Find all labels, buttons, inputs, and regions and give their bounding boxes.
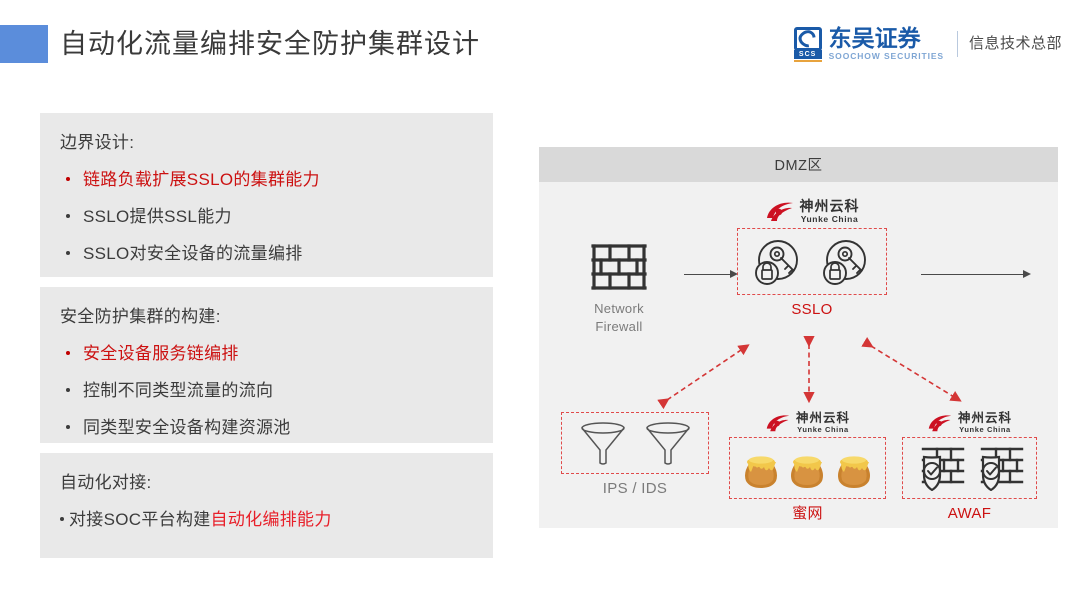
bullet-text: 安全设备服务链编排 bbox=[83, 340, 239, 367]
brand-divider bbox=[957, 31, 958, 57]
honey-pot-icon bbox=[835, 446, 873, 490]
vendor-name-cn: 神州云科 bbox=[958, 412, 1012, 425]
yunke-swoosh-icon bbox=[927, 414, 953, 433]
honey-pot-icon bbox=[742, 446, 780, 490]
vendor-name-en: Yunke China bbox=[958, 425, 1012, 435]
bullet-text: 链路负载扩展SSLO的集群能力 bbox=[83, 166, 320, 193]
flow-arrow-out-head bbox=[1023, 270, 1031, 278]
bullet-text: SSLO对安全设备的流量编排 bbox=[83, 240, 303, 267]
awaf-dashed-group bbox=[902, 437, 1037, 499]
vendor-name-cn: 神州云科 bbox=[800, 199, 860, 214]
vendor-name-en: Yunke China bbox=[800, 214, 860, 225]
bullet-item: 对接SOC平台构建自动化编排能力 bbox=[60, 506, 473, 533]
soochow-logo: SCS 东吴证券 SOOCHOW SECURITIES bbox=[794, 27, 944, 62]
node-honeynet: 神州云科 Yunke China bbox=[729, 412, 886, 523]
bullet-dot-icon bbox=[66, 177, 70, 181]
block-heading: 自动化对接: bbox=[60, 469, 473, 497]
node-sslo: 神州云科 Yunke China bbox=[737, 199, 887, 319]
bullet-dot-icon bbox=[66, 388, 70, 392]
bullet-item: SSLO对安全设备的流量编排 bbox=[60, 240, 473, 267]
flow-arrow-out-line bbox=[921, 274, 1025, 275]
honey-pot-icon bbox=[788, 446, 826, 490]
shield-wall-icon bbox=[915, 445, 965, 491]
arrow-sslo-to-awaf bbox=[871, 346, 959, 400]
node-label-ips-ids: IPS / IDS bbox=[561, 474, 709, 498]
content-block-cluster-build: 安全防护集群的构建: 安全设备服务链编排 控制不同类型流量的流向 同类型安全设备… bbox=[40, 287, 493, 443]
node-label-sslo: SSLO bbox=[737, 295, 887, 319]
bullet-item: 链路负载扩展SSLO的集群能力 bbox=[60, 166, 473, 193]
brick-wall-icon bbox=[591, 242, 647, 294]
arrow-sslo-to-ips bbox=[667, 346, 747, 400]
bullet-text: 对接SOC平台构建自动化编排能力 bbox=[69, 506, 332, 533]
bullet-text: 控制不同类型流量的流向 bbox=[83, 377, 273, 404]
bullet-item: SSLO提供SSL能力 bbox=[60, 203, 473, 230]
brand-name-en: SOOCHOW SECURITIES bbox=[829, 50, 944, 62]
bullet-text: SSLO提供SSL能力 bbox=[83, 203, 232, 230]
bullet-text-plain: 对接SOC平台构建 bbox=[69, 510, 211, 529]
yunke-swoosh-icon bbox=[765, 201, 795, 223]
brand-department: 信息技术总部 bbox=[969, 34, 1062, 54]
vendor-logo-yunke: 神州云科 Yunke China bbox=[729, 412, 886, 435]
funnel-icon bbox=[579, 420, 627, 466]
soochow-mark-icon: SCS bbox=[794, 27, 824, 59]
page-title: 自动化流量编排安全防护集群设计 bbox=[60, 24, 480, 64]
vendor-logo-yunke: 神州云科 Yunke China bbox=[902, 412, 1037, 435]
bullet-dot-icon bbox=[60, 517, 64, 521]
dmz-zone-label: DMZ区 bbox=[775, 154, 823, 175]
soochow-mark-text: SCS bbox=[794, 50, 822, 59]
node-label-honeynet: 蜜网 bbox=[729, 499, 886, 523]
brand-block: SCS 东吴证券 SOOCHOW SECURITIES 信息技术总部 bbox=[794, 24, 1062, 64]
vendor-logo-yunke: 神州云科 Yunke China bbox=[737, 199, 887, 225]
bullet-item: 同类型安全设备构建资源池 bbox=[60, 414, 473, 441]
key-lock-icon bbox=[752, 236, 804, 288]
yunke-swoosh-icon bbox=[765, 414, 791, 433]
node-label-awaf: AWAF bbox=[902, 499, 1037, 523]
node-network-firewall: Network Firewall bbox=[564, 242, 674, 336]
node-awaf: 神州云科 Yunke China bbox=[902, 412, 1037, 523]
bullet-text-highlight: 自动化编排能力 bbox=[211, 510, 332, 529]
block-heading: 安全防护集群的构建: bbox=[60, 303, 473, 331]
dmz-zone-header: DMZ区 bbox=[539, 147, 1058, 182]
vendor-name-en: Yunke China bbox=[796, 425, 850, 435]
ips-dashed-group bbox=[561, 412, 709, 474]
service-chain-arrows bbox=[539, 332, 1058, 422]
key-lock-icon bbox=[820, 236, 872, 288]
bullet-text: 同类型安全设备构建资源池 bbox=[83, 414, 291, 441]
block-heading: 边界设计: bbox=[60, 129, 473, 157]
honeynet-dashed-group bbox=[729, 437, 886, 499]
bullet-item: 安全设备服务链编排 bbox=[60, 340, 473, 367]
content-block-boundary-design: 边界设计: 链路负载扩展SSLO的集群能力 SSLO提供SSL能力 SSLO对安… bbox=[40, 113, 493, 277]
shield-wall-icon bbox=[974, 445, 1024, 491]
vendor-name-cn: 神州云科 bbox=[796, 412, 850, 425]
title-accent-bar bbox=[0, 25, 48, 63]
bullet-dot-icon bbox=[66, 251, 70, 255]
bullet-dot-icon bbox=[66, 214, 70, 218]
content-block-automation: 自动化对接: 对接SOC平台构建自动化编排能力 bbox=[40, 453, 493, 558]
slide-root: 自动化流量编排安全防护集群设计 SCS 东吴证券 SOOCHOW SECURIT… bbox=[0, 0, 1080, 608]
bullet-dot-icon bbox=[66, 425, 70, 429]
flow-arrow-in-line bbox=[684, 274, 732, 275]
funnel-icon bbox=[644, 420, 692, 466]
bullet-item: 控制不同类型流量的流向 bbox=[60, 377, 473, 404]
architecture-diagram: DMZ区 bbox=[539, 147, 1058, 528]
brand-name-cn: 东吴证券 bbox=[829, 27, 944, 50]
node-label-line1: Network bbox=[564, 294, 674, 318]
bullet-dot-icon bbox=[66, 351, 70, 355]
node-ips-ids: IPS / IDS bbox=[561, 412, 709, 498]
sslo-dashed-group bbox=[737, 228, 887, 295]
